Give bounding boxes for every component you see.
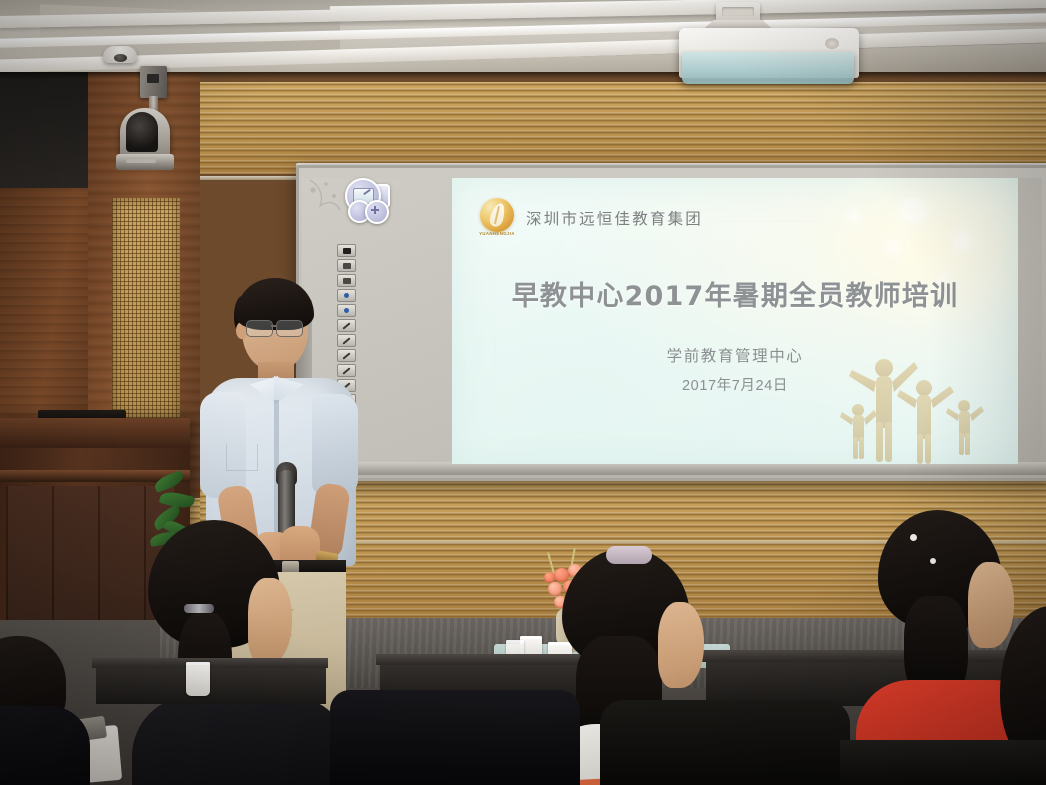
widget-move-icon bbox=[371, 206, 379, 214]
slide-brand: YUANHENGJIA 深圳市远恒佳教育集团 bbox=[480, 198, 703, 238]
attendee-face bbox=[658, 602, 704, 688]
presentation-room-photo: YUANHENGJIA 深圳市远恒佳教育集团 早教中心2017年暑期全员教师培训… bbox=[0, 0, 1046, 785]
projector-indicator bbox=[825, 38, 839, 49]
presentation-slide: YUANHENGJIA 深圳市远恒佳教育集团 早教中心2017年暑期全员教师培训… bbox=[452, 178, 1018, 464]
attendee-torso bbox=[0, 706, 90, 785]
attendee-foreground-silhouette bbox=[330, 690, 580, 785]
toolbar-undo-tool[interactable] bbox=[337, 259, 356, 272]
paper-cup bbox=[186, 662, 210, 696]
chair-back-foreground bbox=[600, 700, 850, 785]
slide-bokeh bbox=[887, 240, 900, 253]
slide-title: 早教中心2017年暑期全员教师培训 bbox=[452, 274, 1018, 313]
toolbar-select-tool[interactable] bbox=[337, 244, 356, 257]
desk-front-left-top bbox=[92, 658, 328, 668]
speaker-shirt-pocket bbox=[226, 444, 258, 471]
wall-slat-panel-upper bbox=[200, 82, 1046, 174]
hair-pin bbox=[910, 534, 917, 541]
slide-bokeh bbox=[849, 212, 858, 221]
attendee-front-left bbox=[0, 636, 120, 785]
slide-bokeh bbox=[900, 198, 926, 224]
whiteboard-floating-widget[interactable] bbox=[345, 178, 389, 224]
slide-bokeh bbox=[954, 232, 972, 250]
whiteboard-flourish-icon bbox=[306, 176, 346, 222]
desk-foreground-right bbox=[840, 740, 1046, 785]
hair-pin bbox=[930, 558, 936, 564]
plant-leaf bbox=[153, 470, 186, 492]
attendee-face bbox=[248, 578, 292, 664]
speaker-glasses-bridge bbox=[271, 325, 276, 327]
podium-top bbox=[0, 418, 190, 448]
hair-scrunchie bbox=[606, 546, 652, 564]
jumping-figures-graphic bbox=[828, 344, 1008, 464]
wall-dark-upper-left bbox=[0, 72, 92, 192]
projector-lens-panel bbox=[682, 52, 854, 84]
dome-camera-lens bbox=[114, 54, 127, 62]
attendee-torso bbox=[132, 696, 350, 785]
speaker-glasses-right bbox=[276, 320, 303, 337]
company-name: 深圳市远恒佳教育集团 bbox=[526, 207, 703, 229]
desk-front-left bbox=[96, 664, 326, 704]
ptz-camera-bracket bbox=[140, 66, 167, 98]
speaker-sleeve-right bbox=[312, 394, 358, 494]
ptz-camera-lens bbox=[126, 112, 158, 152]
logo-wordmark: YUANHENGJIA bbox=[478, 231, 516, 236]
dome-camera-icon bbox=[103, 46, 137, 63]
ptz-camera-base bbox=[116, 154, 174, 170]
hair-tie bbox=[184, 604, 214, 613]
company-logo-icon: YUANHENGJIA bbox=[480, 198, 514, 238]
attendee-black-top bbox=[120, 520, 350, 785]
speaker-glasses-left bbox=[246, 320, 273, 337]
